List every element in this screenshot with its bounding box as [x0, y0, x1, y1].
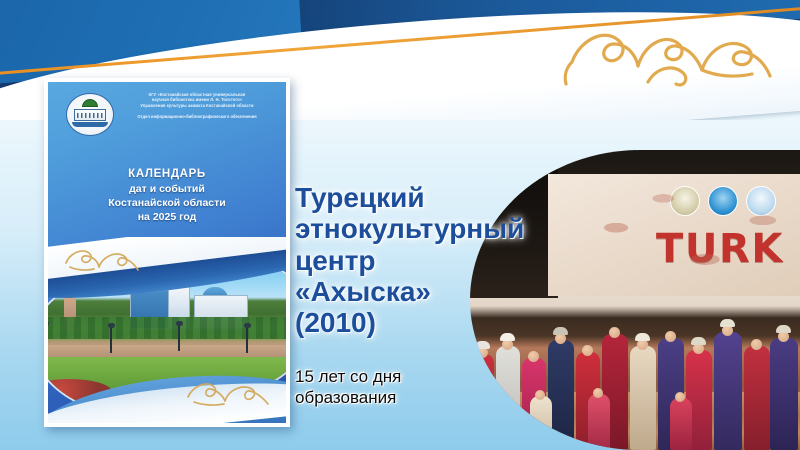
cover-subtitle-1: дат и событий — [48, 183, 286, 195]
cover-org-line3: Управления культуры акимата Костанайской… — [122, 103, 272, 108]
kazakh-scroll-ornament-icon — [552, 6, 782, 98]
anniversary-text: 15 лет со дня образования — [295, 366, 510, 409]
event-photo: TURK — [470, 150, 800, 450]
title-year: (2010) — [295, 307, 505, 338]
anniversary-line-1: 15 лет со дня — [295, 366, 510, 387]
title-line-1: Турецкий — [295, 182, 505, 213]
emblem-light-icon — [746, 186, 776, 216]
cover-title-block: КАЛЕНДАРЬ дат и событий Костанайской обл… — [48, 168, 286, 223]
page-title: Турецкий этнокультурный центр «Ахыска» (… — [295, 182, 505, 339]
stage-screen-text: TURK — [656, 226, 784, 272]
title-line-2: этнокультурный — [295, 213, 505, 244]
cover-title: КАЛЕНДАРЬ — [48, 168, 286, 180]
cover-inner: КГУ «Костанайская областная универсальна… — [48, 82, 286, 423]
performers-group — [470, 280, 800, 450]
title-line-4: «Ахыска» — [295, 276, 505, 307]
emblem-gold-icon — [670, 186, 700, 216]
cover-subtitle-3: на 2025 год — [48, 211, 286, 223]
anniversary-line-2: образования — [295, 387, 510, 408]
emblem-blue-icon — [708, 186, 738, 216]
cover-photo-area — [48, 237, 286, 423]
library-emblem-icon — [66, 93, 114, 136]
cover-subtitle-2: Костанайской области — [48, 197, 286, 209]
cover-department: Отдел информационно-библиографического о… — [122, 114, 272, 119]
slide-canvas: КГУ «Костанайская областная универсальна… — [0, 0, 800, 450]
kazakh-scroll-ornament-icon — [60, 243, 146, 273]
kazakh-scroll-ornament-icon — [182, 375, 278, 407]
stage-led-screen: TURK — [548, 174, 800, 296]
cover-organization-text: КГУ «Костанайская областная универсальна… — [122, 92, 272, 120]
calendar-book-cover[interactable]: КГУ «Костанайская областная универсальна… — [44, 78, 290, 427]
title-line-3: центр — [295, 245, 505, 276]
